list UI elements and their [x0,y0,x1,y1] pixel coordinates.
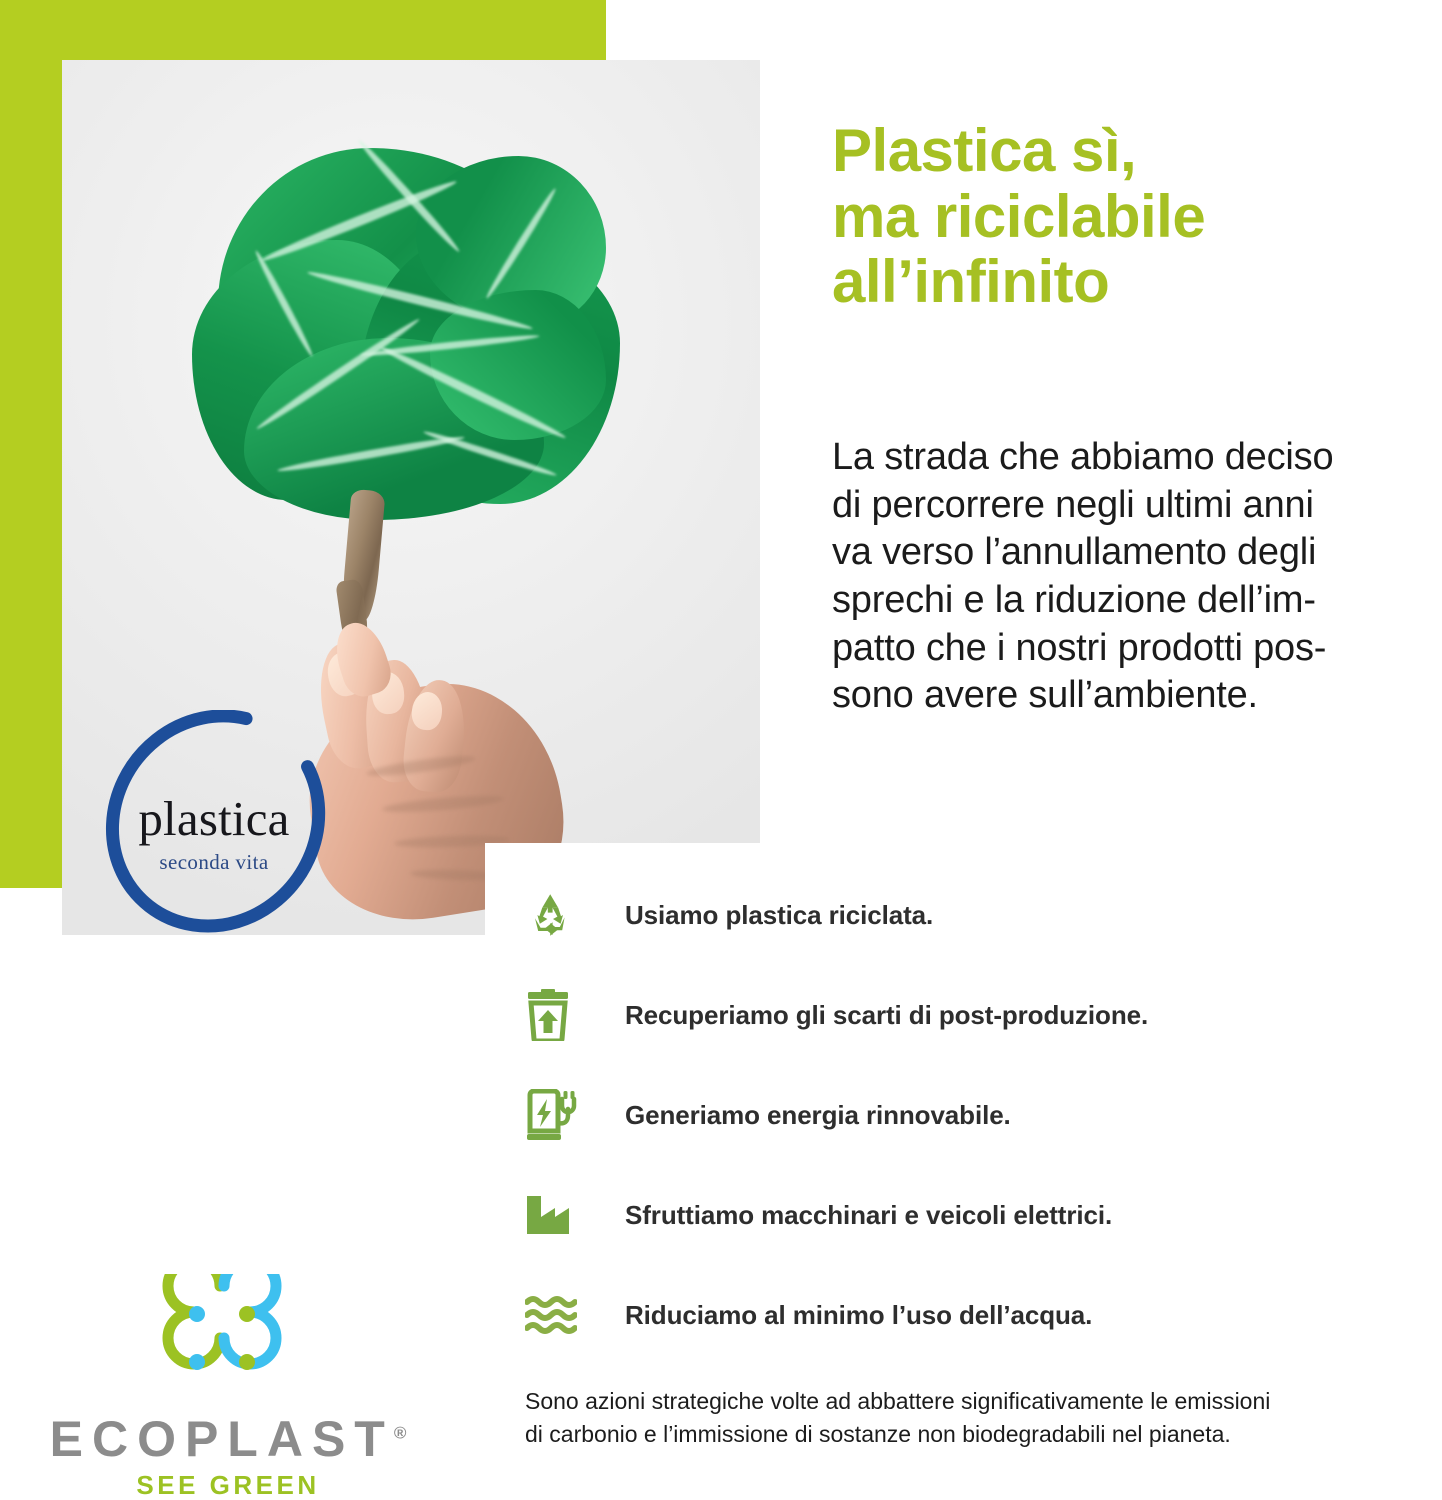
registered-mark: ® [394,1423,407,1442]
benefit-label: Sfruttiamo macchinari e veicoli elettric… [625,1200,1112,1231]
footnote-line-2: di carbonio e l’immissione di sostanze n… [525,1418,1442,1451]
recycle-icon [525,887,589,943]
ecoplast-logo: ECOPLAST® SEE GREEN [28,1274,428,1500]
footnote-text: Sono azioni strategiche volte ad abbatte… [525,1385,1442,1450]
page-title: Plastica sì, ma riciclabile all’infinito [832,118,1432,315]
poster-canvas: plastica seconda vita Plastica sì, ma ri… [0,0,1442,1500]
ecoplast-wordmark: ECOPLAST® [28,1410,428,1468]
factory-icon [525,1187,589,1243]
lede-line-3: va verso l’annullamento degli [832,529,1442,577]
list-item: Sfruttiamo macchinari e veicoli elettric… [525,1165,1435,1265]
benefit-label: Usiamo plastica riciclata. [625,900,933,931]
lede-line-5: patto che i nostri prodotti pos- [832,625,1442,673]
lede-line-2: di percorrere negli ultimi anni [832,482,1442,530]
lede-line-4: sprechi e la riduzione dell’im- [832,577,1442,625]
list-item: Riduciamo al minimo l’uso dell’acqua. [525,1265,1435,1365]
benefit-label: Recuperiamo gli scarti di post-produzion… [625,1000,1148,1031]
headline-line-2: ma riciclabile [832,184,1432,250]
benefits-list: Usiamo plastica riciclata. Recuperiamo g… [525,865,1435,1365]
hero-photo-card: plastica seconda vita [62,60,760,935]
trash-up-icon [525,987,589,1043]
benefit-label: Riduciamo al minimo l’uso dell’acqua. [625,1300,1092,1331]
plastica-seconda-vita-logo: plastica seconda vita [84,710,344,935]
list-item: Recuperiamo gli scarti di post-produzion… [525,965,1435,1065]
headline-line-3: all’infinito [832,249,1432,315]
water-waves-icon [525,1287,589,1343]
paper-tree-canopy [184,120,604,540]
list-item: Generiamo energia rinnovabile. [525,1065,1435,1165]
lede-line-6: sono avere sull’ambiente. [832,672,1442,720]
footnote-line-1: Sono azioni strategiche volte ad abbatte… [525,1385,1442,1418]
ecoplast-tagline: SEE GREEN [28,1470,428,1500]
benefit-label: Generiamo energia rinnovabile. [625,1100,1011,1131]
lede-line-1: La strada che abbiamo deciso [832,434,1442,482]
headline-line-1: Plastica sì, [832,118,1432,184]
ecoplast-butterfly-icon [150,1274,294,1402]
intro-paragraph: La strada che abbiamo deciso di percorre… [832,434,1442,720]
ecoplast-wordmark-text: ECOPLAST [50,1411,394,1467]
list-item: Usiamo plastica riciclata. [525,865,1435,965]
ev-charger-icon [525,1087,589,1143]
psv-tagline: seconda vita [88,850,340,875]
psv-wordmark: plastica [88,794,340,843]
